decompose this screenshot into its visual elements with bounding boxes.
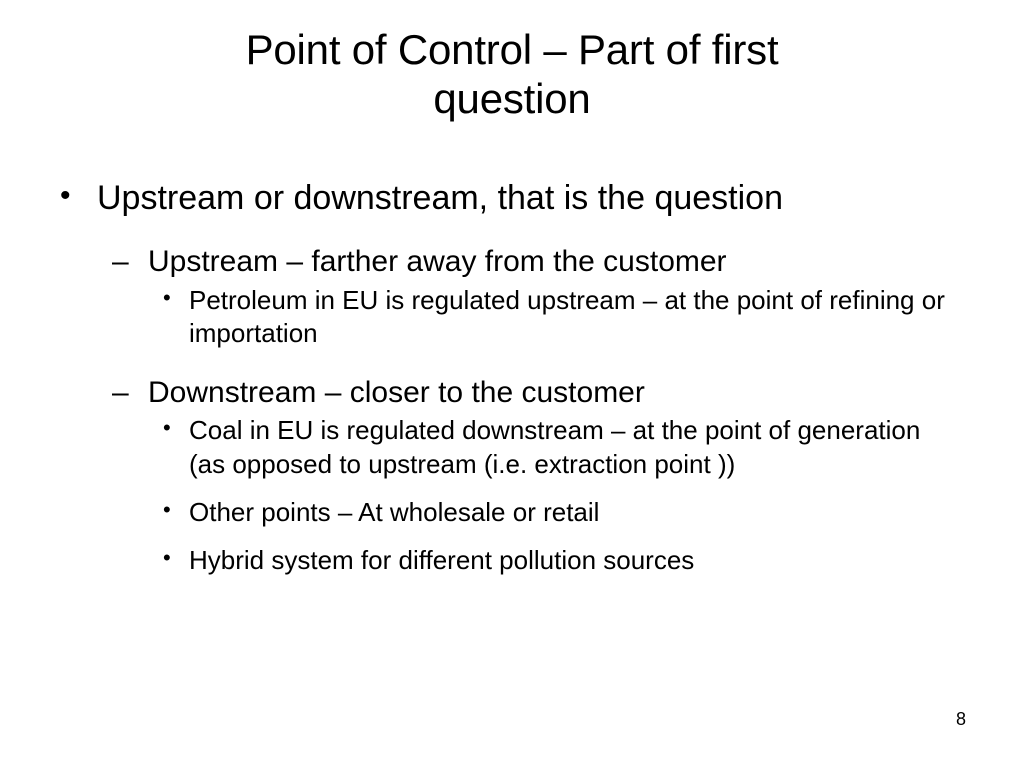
bullet-marker-disc-icon: • bbox=[163, 496, 171, 525]
bullet-marker-disc-icon: • bbox=[60, 178, 71, 213]
bullet-marker-disc-icon: • bbox=[163, 414, 171, 443]
slide-body: • Upstream or downstream, that is the qu… bbox=[0, 178, 1024, 582]
bullet-level2-upstream: – Upstream – farther away from the custo… bbox=[0, 244, 1024, 279]
bullet-text: Upstream – farther away from the custome… bbox=[148, 244, 934, 279]
spacer bbox=[0, 355, 1024, 369]
slide-title: Point of Control – Part of first questio… bbox=[62, 26, 962, 123]
bullet-text: Petroleum in EU is regulated upstream – … bbox=[189, 284, 946, 352]
bullet-level3-coal: • Coal in EU is regulated downstream – a… bbox=[0, 414, 1024, 482]
page-number: 8 bbox=[956, 710, 966, 728]
slide-title-line-2: question bbox=[433, 75, 590, 122]
spacer bbox=[0, 534, 1024, 540]
slide-title-line-1: Point of Control – Part of first bbox=[246, 26, 779, 73]
bullet-marker-disc-icon: • bbox=[163, 544, 171, 573]
bullet-marker-disc-icon: • bbox=[163, 284, 171, 313]
bullet-text: Hybrid system for different pollution so… bbox=[189, 544, 946, 578]
bullet-text: Downstream – closer to the customer bbox=[148, 375, 934, 410]
bullet-level1-question: • Upstream or downstream, that is the qu… bbox=[0, 178, 1024, 218]
bullet-level3-hybrid-system: • Hybrid system for different pollution … bbox=[0, 544, 1024, 578]
spacer bbox=[0, 486, 1024, 492]
bullet-text: Other points – At wholesale or retail bbox=[189, 496, 946, 530]
bullet-text: Coal in EU is regulated downstream – at … bbox=[189, 414, 946, 482]
bullet-level2-downstream: – Downstream – closer to the customer bbox=[0, 375, 1024, 410]
bullet-marker-dash-icon: – bbox=[112, 375, 129, 410]
bullet-level3-petroleum: • Petroleum in EU is regulated upstream … bbox=[0, 284, 1024, 352]
bullet-level3-other-points: • Other points – At wholesale or retail bbox=[0, 496, 1024, 530]
slide: Point of Control – Part of first questio… bbox=[0, 0, 1024, 768]
bullet-marker-dash-icon: – bbox=[112, 244, 129, 279]
bullet-text: Upstream or downstream, that is the ques… bbox=[97, 178, 849, 218]
spacer bbox=[0, 224, 1024, 238]
